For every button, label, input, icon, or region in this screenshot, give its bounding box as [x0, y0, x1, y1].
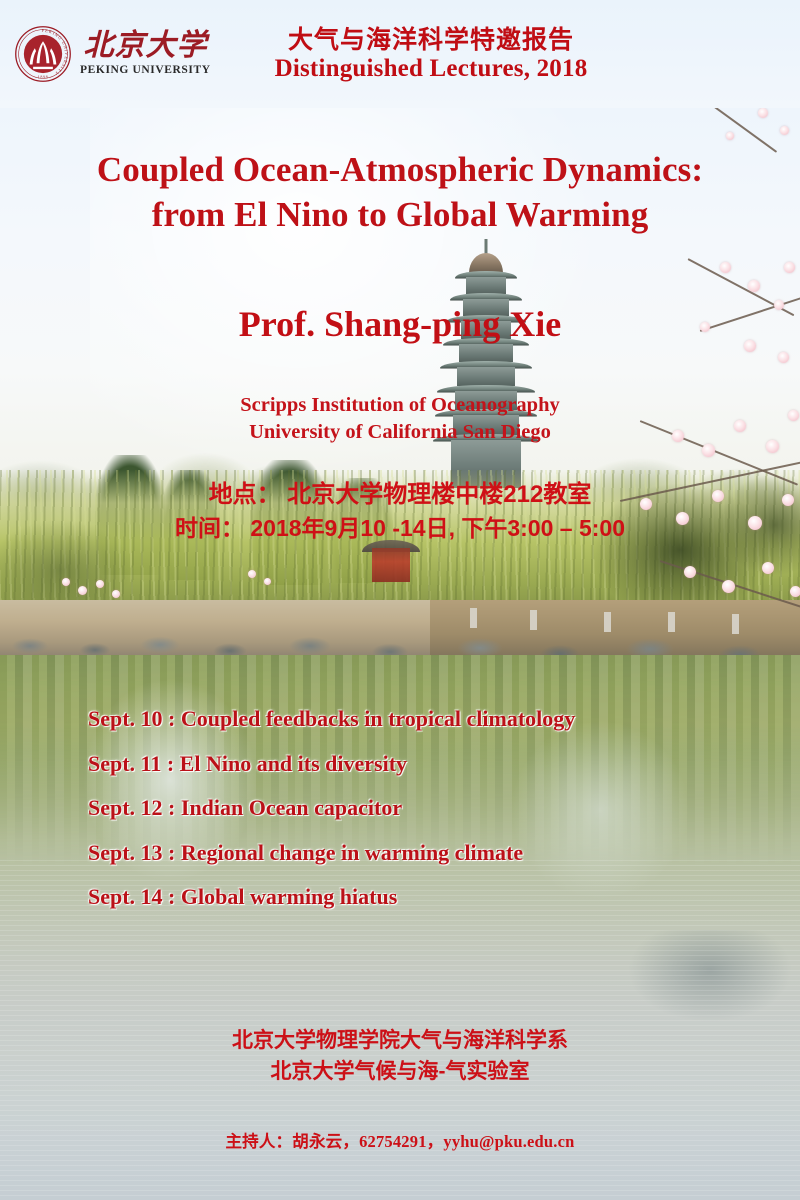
- venue-and-time: 地点： 北京大学物理楼中楼212教室 时间： 2018年9月10 -14日, 下…: [0, 478, 800, 545]
- affiliation-line-1: Scripps Institution of Oceanography: [0, 392, 800, 419]
- page-title: Coupled Ocean-Atmospheric Dynamics: from…: [0, 148, 800, 238]
- schedule-item: Sept. 11 : El Nino and its diversity: [88, 753, 768, 775]
- venue-location: 地点： 北京大学物理楼中楼212教室: [0, 478, 800, 512]
- poster-content: Coupled Ocean-Atmospheric Dynamics: from…: [0, 0, 800, 1200]
- department-line-1: 北京大学物理学院大气与海洋科学系: [0, 1025, 800, 1056]
- schedule-item: Sept. 13 : Regional change in warming cl…: [88, 842, 768, 864]
- organizing-departments: 北京大学物理学院大气与海洋科学系 北京大学气候与海-气实验室: [0, 1025, 800, 1087]
- speaker-affiliation: Scripps Institution of Oceanography Univ…: [0, 392, 800, 446]
- lecture-schedule: Sept. 10 : Coupled feedbacks in tropical…: [88, 708, 768, 931]
- venue-time: 时间： 2018年9月10 -14日, 下午3:00 – 5:00: [0, 512, 800, 545]
- title-line-1: Coupled Ocean-Atmospheric Dynamics:: [0, 148, 800, 193]
- contact-phone: 62754291，: [359, 1132, 443, 1151]
- lecture-poster: PEKING UNIVERSITY 1898 北京大学 PEKING UNIVE…: [0, 0, 800, 1200]
- title-line-2: from El Nino to Global Warming: [0, 193, 800, 238]
- department-line-2: 北京大学气候与海-气实验室: [0, 1056, 800, 1087]
- contact-email[interactable]: yyhu@pku.edu.cn: [443, 1132, 574, 1151]
- contact-info: 主持人：胡永云，62754291，yyhu@pku.edu.cn: [0, 1128, 800, 1152]
- schedule-item: Sept. 14 : Global warming hiatus: [88, 886, 768, 908]
- affiliation-line-2: University of California San Diego: [0, 419, 800, 446]
- contact-host-label: 主持人：: [225, 1133, 292, 1151]
- schedule-item: Sept. 12 : Indian Ocean capacitor: [88, 797, 768, 819]
- contact-host-name: 胡永云，: [292, 1133, 359, 1151]
- speaker-name: Prof. Shang-ping Xie: [0, 305, 800, 345]
- schedule-item: Sept. 10 : Coupled feedbacks in tropical…: [88, 708, 768, 730]
